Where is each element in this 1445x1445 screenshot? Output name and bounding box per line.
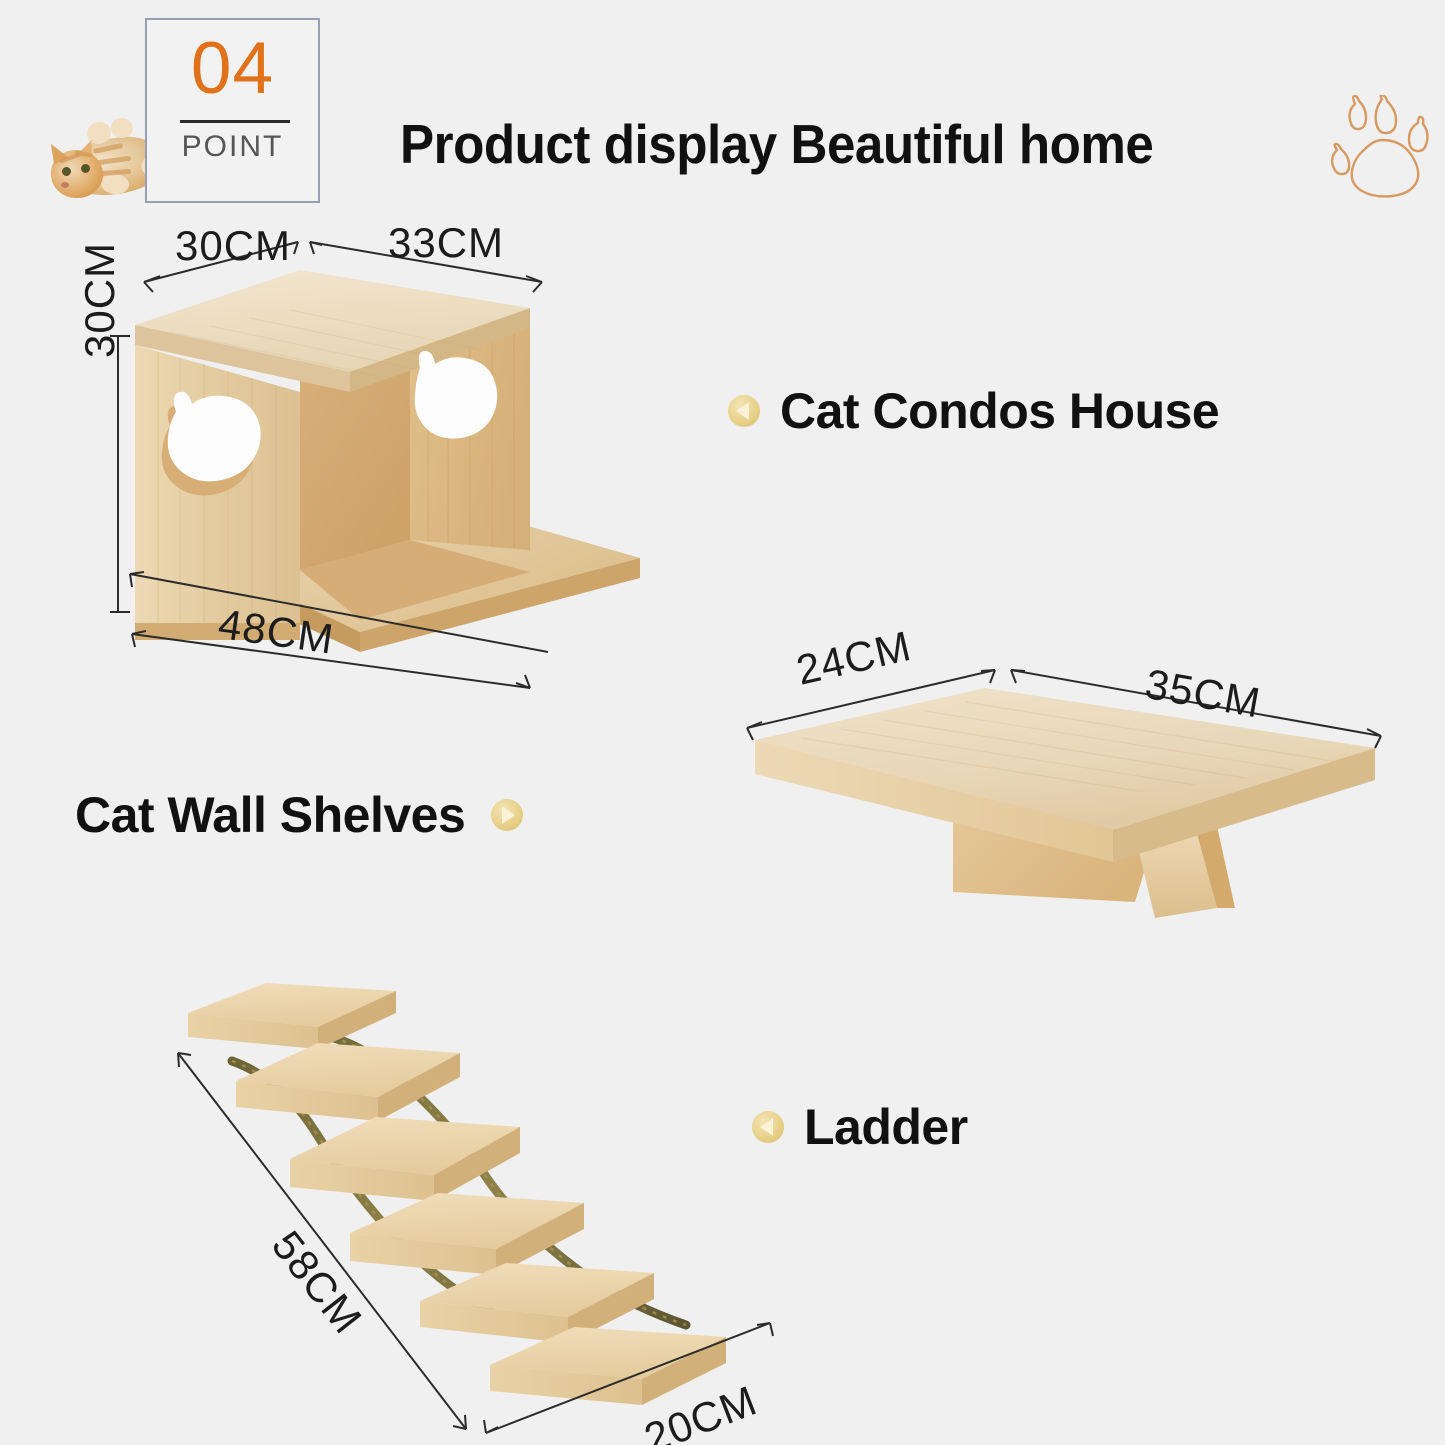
ladder-illustration (170, 965, 810, 1435)
section-label-cat-wall-shelves: Cat Wall Shelves (75, 786, 523, 844)
label-cat-condos-house: Cat Condos House (780, 382, 1219, 440)
dimension-30cm-height: 30CM (76, 242, 124, 358)
badge-divider (180, 120, 290, 123)
dimension-33cm-width: 33CM (388, 219, 504, 267)
cat-condos-house-illustration (110, 240, 660, 690)
section-label-cat-condos-house: Cat Condos House (728, 382, 1219, 440)
label-cat-wall-shelves: Cat Wall Shelves (75, 786, 465, 844)
marker-left-icon[interactable] (728, 395, 760, 427)
ladder-slat (290, 1117, 520, 1201)
paw-print-icon (1325, 95, 1440, 207)
badge-number: 04 (147, 32, 318, 105)
point-badge: 04 POINT (40, 12, 330, 207)
ladder-slat (188, 983, 396, 1049)
ladder-slat (350, 1193, 584, 1275)
label-ladder: Ladder (804, 1098, 968, 1156)
marker-right-icon[interactable] (491, 799, 523, 831)
page-title: Product display Beautiful home (400, 112, 1153, 176)
badge-caption: POINT (147, 130, 318, 164)
ladder-slat (490, 1327, 726, 1405)
dimension-30cm-depth: 30CM (175, 222, 291, 270)
badge-frame: 04 POINT (145, 18, 320, 203)
product-display-page: 04 POINT Product display Beautiful home … (0, 0, 1445, 1445)
